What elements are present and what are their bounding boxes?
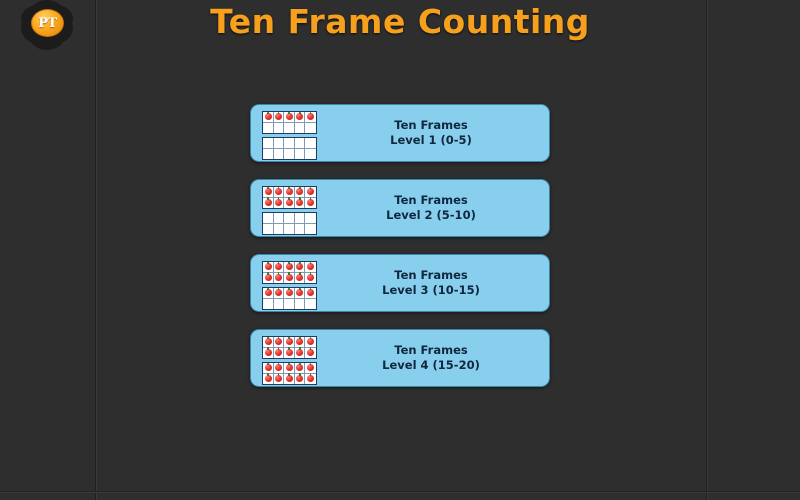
tenframe [262,261,317,284]
tenframe-cell [274,262,285,273]
apple-icon [275,274,282,281]
apple-icon [307,338,314,345]
tenframe-cell [274,187,285,198]
tenframe-cell [284,348,295,359]
tenframe-cell [295,112,306,123]
apple-icon [307,274,314,281]
tenframe-row [263,288,316,299]
ten-frames-level-3[interactable]: Ten FramesLevel 3 (10-15) [250,254,550,312]
tenframe [262,186,317,209]
ten-frames-level-4[interactable]: Ten FramesLevel 4 (15-20) [250,329,550,387]
tenframe-cell [295,198,306,209]
apple-icon [265,274,272,281]
tenframe [262,287,317,310]
apple-icon [286,289,293,296]
tenframe-cell [284,198,295,209]
tenframe-stack [262,111,317,160]
ten-frames-level-2[interactable]: Ten FramesLevel 2 (5-10) [250,179,550,237]
tenframe-cell [295,213,306,224]
tenframe-cell [263,213,274,224]
tenframe-cell [305,112,316,123]
level-button-title: Ten Frames [313,118,549,133]
apple-icon [265,188,272,195]
ten-frame-icon-level-3 [262,261,317,310]
apple-icon [265,199,272,206]
apple-icon [296,188,303,195]
apple-icon [275,113,282,120]
tenframe-cell [274,198,285,209]
tenframe-cell [295,299,306,310]
tenframe [262,111,317,134]
apple-icon [286,375,293,382]
tenframe-cell [274,138,285,149]
tenframe-row [263,198,316,209]
tenframe [262,336,317,359]
tenframe-cell [295,138,306,149]
level-button-title: Ten Frames [313,268,549,283]
apple-icon [286,263,293,270]
level-button-subtitle: Level 4 (15-20) [313,358,549,373]
apple-icon [307,289,314,296]
ten-frame-icon-level-4 [262,336,317,385]
tenframe-cell [305,299,316,310]
apple-icon [275,338,282,345]
level-button-subtitle: Level 3 (10-15) [313,283,549,298]
app-root: PT Ten Frame Counting Ten FramesLevel 1 … [0,0,800,500]
ten-frame-icon-level-1 [262,111,317,160]
tenframe-cell [274,337,285,348]
tenframe-row [263,123,316,134]
apple-icon [296,274,303,281]
tenframe-cell [263,123,274,134]
tenframe-cell [295,149,306,160]
apple-icon [265,338,272,345]
tenframe-cell [305,262,316,273]
apple-icon [265,113,272,120]
apple-icon [296,338,303,345]
tenframe-cell [284,138,295,149]
tenframe-cell [295,363,306,374]
tenframe-cell [274,224,285,235]
tenframe-cell [274,288,285,299]
tenframe-row [263,337,316,348]
apple-icon [286,188,293,195]
tenframe-cell [305,337,316,348]
left-panel-divider [95,0,96,500]
tenframe-row [263,299,316,310]
right-panel-divider [706,0,707,500]
tenframe-cell [263,337,274,348]
tenframe-row [263,363,316,374]
tenframe-stack [262,261,317,310]
tenframe-cell [284,337,295,348]
tenframe-cell [263,187,274,198]
tenframe-cell [274,213,285,224]
tenframe-cell [274,299,285,310]
apple-icon [265,375,272,382]
tenframe-cell [284,112,295,123]
tenframe-row [263,348,316,359]
apple-icon [307,113,314,120]
level-button-title: Ten Frames [313,193,549,208]
tenframe-stack [262,336,317,385]
ten-frames-level-1[interactable]: Ten FramesLevel 1 (0-5) [250,104,550,162]
level-menu: Ten FramesLevel 1 (0-5)Ten FramesLevel 2… [250,104,550,404]
apple-icon [296,375,303,382]
level-button-title: Ten Frames [313,343,549,358]
tenframe-cell [274,149,285,160]
tenframe-cell [263,149,274,160]
apple-icon [275,263,282,270]
level-button-subtitle: Level 1 (0-5) [313,133,549,148]
apple-icon [296,349,303,356]
tenframe-cell [284,149,295,160]
tenframe-cell [274,363,285,374]
tenframe-row [263,138,316,149]
tenframe-cell [305,187,316,198]
ten-frame-icon-level-2 [262,186,317,235]
apple-icon [307,199,314,206]
apple-icon [286,274,293,281]
tenframe-cell [305,363,316,374]
level-button-subtitle: Level 2 (5-10) [313,208,549,223]
tenframe [262,212,317,235]
apple-icon [296,289,303,296]
tenframe-cell [305,273,316,284]
tenframe-cell [263,273,274,284]
tenframe-cell [284,224,295,235]
tenframe-cell [305,213,316,224]
tenframe-cell [274,374,285,385]
apple-icon [275,364,282,371]
apple-icon [296,263,303,270]
tenframe-cell [284,213,295,224]
tenframe-cell [263,374,274,385]
tenframe-cell [274,112,285,123]
apple-icon [286,113,293,120]
tenframe-stack [262,186,317,235]
apple-icon [275,188,282,195]
tenframe-cell [274,273,285,284]
tenframe-cell [305,138,316,149]
tenframe-cell [305,149,316,160]
tenframe-cell [305,374,316,385]
tenframe-row [263,224,316,235]
tenframe-cell [295,262,306,273]
tenframe-cell [295,348,306,359]
tenframe-row [263,112,316,123]
tenframe-cell [305,288,316,299]
tenframe-cell [263,198,274,209]
apple-icon [307,349,314,356]
apple-icon [296,364,303,371]
tenframe-cell [263,288,274,299]
tenframe-cell [274,348,285,359]
tenframe-cell [284,299,295,310]
apple-icon [275,349,282,356]
tenframe-cell [263,348,274,359]
tenframe-cell [274,123,285,134]
apple-icon [296,113,303,120]
tenframe-cell [295,374,306,385]
tenframe-cell [263,262,274,273]
tenframe-row [263,374,316,385]
tenframe-cell [263,224,274,235]
tenframe-cell [284,262,295,273]
tenframe-cell [305,123,316,134]
apple-icon [286,349,293,356]
tenframe-cell [284,374,295,385]
apple-icon [307,263,314,270]
tenframe [262,137,317,160]
tenframe-cell [284,363,295,374]
apple-icon [275,289,282,296]
tenframe-row [263,149,316,160]
apple-icon [307,188,314,195]
apple-icon [265,263,272,270]
tenframe-cell [284,288,295,299]
tenframe-cell [295,187,306,198]
tenframe-cell [263,299,274,310]
tenframe-cell [295,224,306,235]
tenframe-cell [295,337,306,348]
tenframe-row [263,273,316,284]
apple-icon [307,364,314,371]
apple-icon [286,338,293,345]
tenframe-cell [295,123,306,134]
tenframe-cell [263,363,274,374]
tenframe-cell [295,288,306,299]
tenframe-row [263,187,316,198]
tenframe-cell [295,273,306,284]
apple-icon [286,364,293,371]
tenframe-cell [263,138,274,149]
apple-icon [275,199,282,206]
tenframe [262,362,317,385]
tenframe-cell [305,224,316,235]
apple-icon [265,349,272,356]
tenframe-cell [284,187,295,198]
apple-icon [265,364,272,371]
tenframe-cell [284,273,295,284]
tenframe-cell [284,123,295,134]
tenframe-cell [305,198,316,209]
apple-icon [296,199,303,206]
apple-icon [307,375,314,382]
apple-icon [275,375,282,382]
apple-icon [286,199,293,206]
tenframe-row [263,262,316,273]
tenframe-row [263,213,316,224]
page-title: Ten Frame Counting [0,2,800,41]
tenframe-cell [263,112,274,123]
apple-icon [265,289,272,296]
tenframe-cell [305,348,316,359]
bottom-divider [0,491,800,492]
